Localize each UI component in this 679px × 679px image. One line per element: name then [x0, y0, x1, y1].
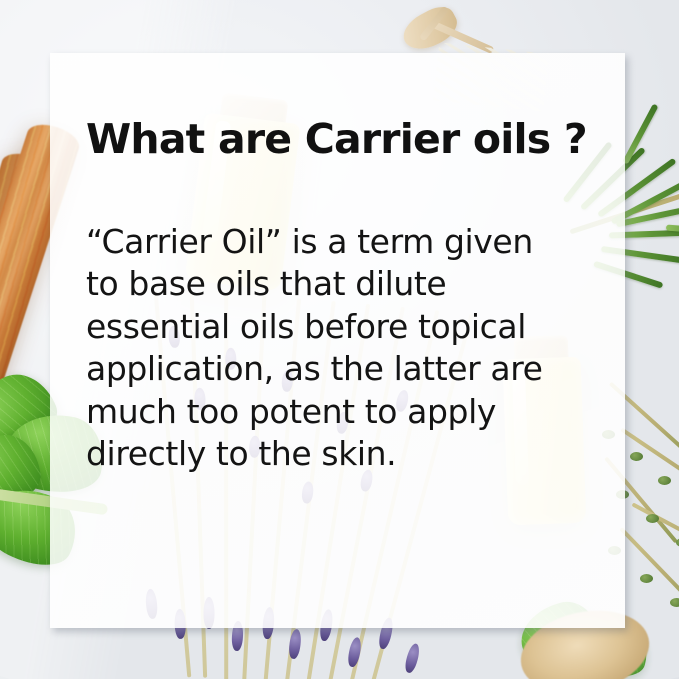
page-title: What are Carrier oils ? — [86, 115, 587, 163]
body-line: directly to the skin. — [86, 433, 587, 475]
white-text-card: What are Carrier oils ? “Carrier Oil” is… — [50, 53, 625, 628]
body-line: essential oils before topical — [86, 306, 587, 348]
body-line: “Carrier Oil” is a term given — [86, 221, 587, 263]
body-line: much too potent to apply — [86, 391, 587, 433]
card-content: What are Carrier oils ? “Carrier Oil” is… — [50, 53, 625, 475]
infographic-card-image: What are Carrier oils ? “Carrier Oil” is… — [0, 0, 679, 679]
body-line: application, as the latter are — [86, 348, 587, 390]
body-line: to base oils that dilute — [86, 263, 587, 305]
body-paragraph: “Carrier Oil” is a term given to base oi… — [86, 221, 587, 475]
